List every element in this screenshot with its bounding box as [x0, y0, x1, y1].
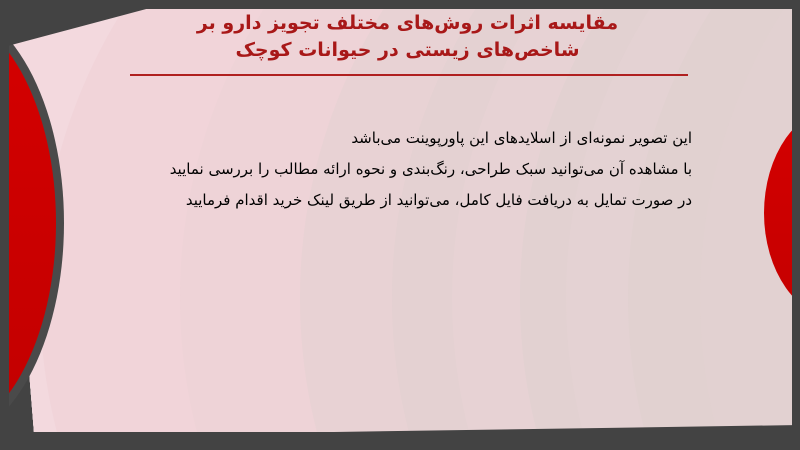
slide-body-text: این تصویر نمونه‌ای از اسلایدهای این پاور… — [170, 123, 692, 216]
slide-title-line-2: شاخص‌های زیستی در حیوانات کوچک — [120, 37, 695, 64]
slide-title: مقایسه اثرات روش‌های مختلف تجویز دارو بر… — [120, 10, 695, 64]
background-arc-decoration — [0, 8, 800, 433]
presentation-slide: مقایسه اثرات روش‌های مختلف تجویز دارو بر… — [0, 0, 800, 450]
slide-body-line-1: این تصویر نمونه‌ای از اسلایدهای این پاور… — [170, 123, 692, 154]
slide-body-line-2: با مشاهده آن می‌توانید سبک طراحی، رنگ‌بن… — [170, 154, 692, 185]
slide-title-line-1: مقایسه اثرات روش‌های مختلف تجویز دارو بر — [120, 10, 695, 37]
frame-top — [0, 0, 800, 9]
frame-right — [792, 0, 800, 450]
slide-background-panel — [0, 8, 800, 433]
frame-left — [0, 0, 9, 450]
frame-bottom — [0, 432, 800, 450]
title-underline-rule — [130, 74, 688, 76]
slide-body-line-3: در صورت تمایل به دریافت فایل کامل، می‌تو… — [170, 185, 692, 216]
